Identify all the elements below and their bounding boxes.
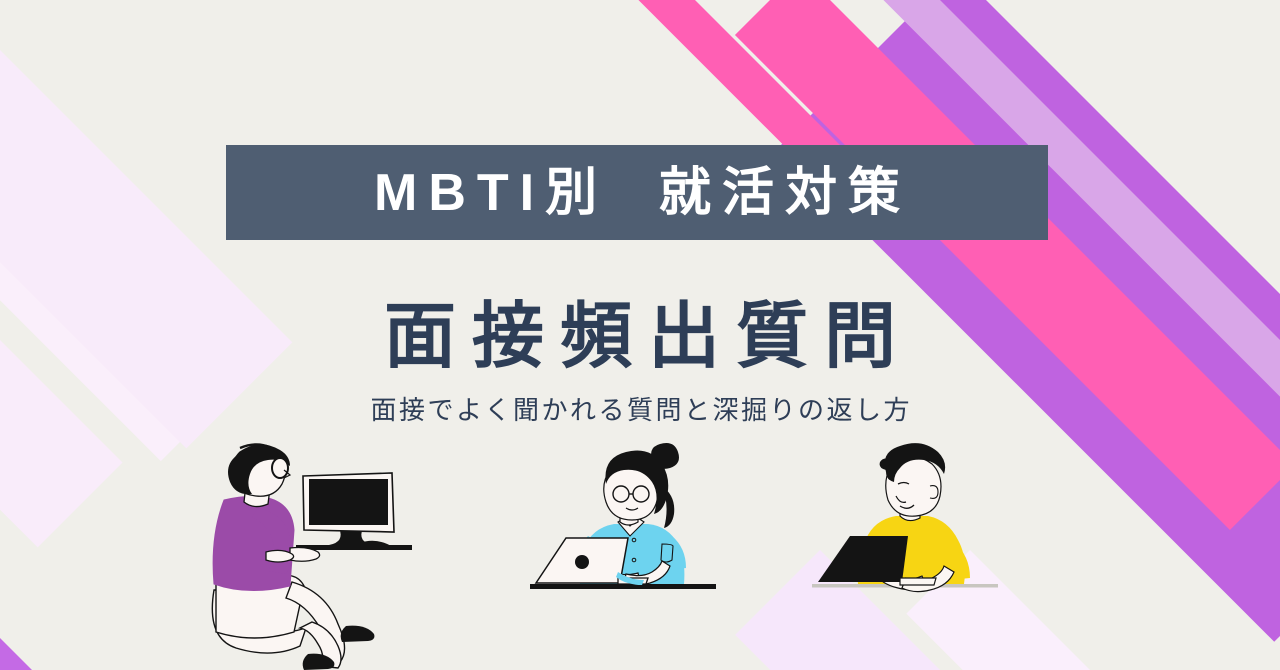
page-title: 面接頻出質問 <box>0 300 1280 376</box>
category-banner-label: MBTI別 就活対策 <box>363 167 911 219</box>
stripe-shape <box>0 10 123 547</box>
illustration-man-yellow-shirt-laptop <box>802 440 1018 600</box>
illustration-woman-glasses-laptop <box>522 440 738 600</box>
stripe-shape <box>0 530 123 670</box>
page-subtitle: 面接でよく聞かれる質問と深掘りの返し方 <box>0 390 1280 427</box>
illustration-person-headphones-desktop <box>196 440 428 670</box>
category-banner: MBTI別 就活対策 <box>226 145 1048 240</box>
poster-canvas: MBTI別 就活対策 面接頻出質問 面接でよく聞かれる質問と深掘りの返し方 <box>0 0 1280 670</box>
headline-block: 面接頻出質問 面接でよく聞かれる質問と深掘りの返し方 <box>0 300 1280 427</box>
